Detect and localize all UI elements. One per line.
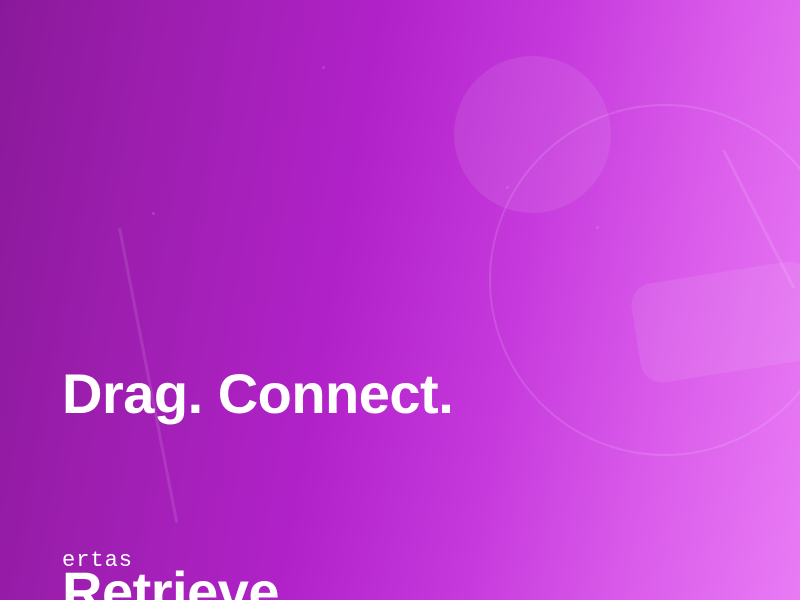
- wordmark: ertas: [62, 548, 133, 573]
- decorative-filled-circle: [454, 56, 611, 213]
- decorative-speck: [506, 186, 509, 189]
- headline-line-1: Drag. Connect.: [62, 361, 453, 427]
- decorative-rounded-rectangle: [628, 258, 800, 385]
- decorative-speck: [322, 66, 325, 69]
- slide-canvas: Drag. Connect. Retrieve. ertas: [0, 0, 800, 600]
- decorative-diagonal-line-right: [722, 149, 795, 288]
- decorative-outlined-circle: [489, 104, 800, 456]
- headline: Drag. Connect. Retrieve.: [62, 229, 453, 600]
- decorative-speck: [152, 212, 155, 215]
- decorative-speck: [596, 226, 599, 229]
